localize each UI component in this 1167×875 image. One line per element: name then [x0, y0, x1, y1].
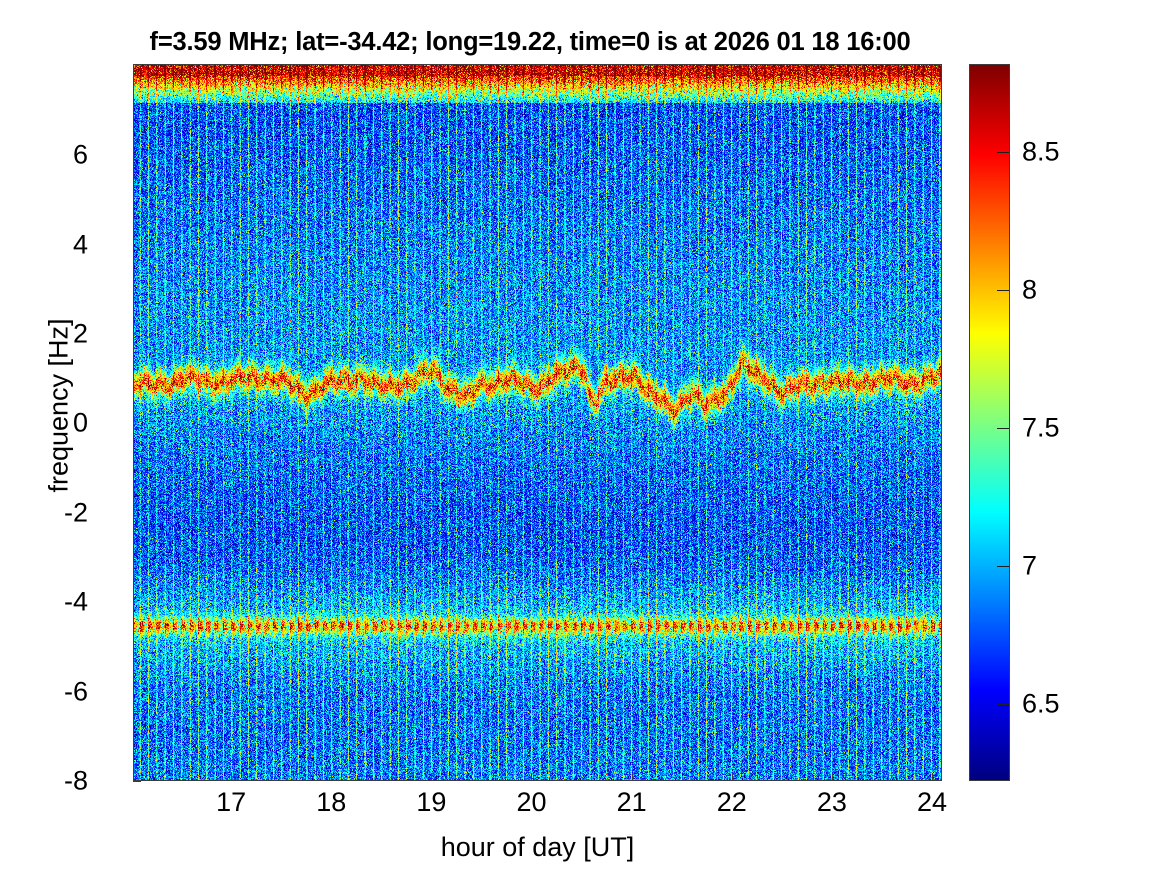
y-axis-tick-2: 2	[28, 320, 88, 347]
x-axis-label: hour of day [UT]	[133, 832, 942, 863]
x-axis-tick-22: 22	[692, 789, 772, 816]
spectrogram-image[interactable]	[134, 65, 942, 781]
colorbar[interactable]	[969, 64, 1010, 781]
colorbar-tick-mark	[997, 152, 1009, 153]
x-tick-mark	[431, 773, 432, 781]
colorbar-gradient	[970, 65, 1009, 780]
colorbar-tick-8: 8	[1022, 277, 1037, 304]
colorbar-tick-7p5: 7.5	[1022, 415, 1060, 442]
y-axis-tick-neg2: -2	[28, 499, 88, 526]
colorbar-tick-mark	[997, 704, 1009, 705]
colorbar-tick-mark	[997, 566, 1009, 567]
x-tick-mark	[531, 773, 532, 781]
x-tick-mark	[331, 773, 332, 781]
y-axis-tick-4: 4	[28, 231, 88, 258]
x-tick-mark	[231, 773, 232, 781]
x-axis-tick-21: 21	[592, 789, 672, 816]
y-axis-tick-neg6: -6	[28, 678, 88, 705]
y-axis-tick-neg8: -8	[28, 768, 88, 795]
figure-canvas: f=3.59 MHz; lat=-34.42; long=19.22, time…	[0, 0, 1167, 875]
x-tick-mark	[932, 773, 933, 781]
colorbar-tick-7: 7	[1022, 552, 1037, 579]
colorbar-tick-mark	[997, 290, 1009, 291]
x-axis-tick-23: 23	[792, 789, 872, 816]
x-axis-tick-20: 20	[491, 789, 571, 816]
x-axis-tick-17: 17	[191, 789, 271, 816]
x-axis-tick-19: 19	[391, 789, 471, 816]
y-tick-mark	[133, 781, 141, 782]
x-tick-mark	[832, 773, 833, 781]
spectrogram-axes[interactable]	[133, 64, 942, 781]
colorbar-tick-6p5: 6.5	[1022, 690, 1060, 717]
x-tick-mark	[732, 773, 733, 781]
x-tick-mark	[632, 773, 633, 781]
colorbar-tick-8p5: 8.5	[1022, 139, 1060, 166]
page-title: f=3.59 MHz; lat=-34.42; long=19.22, time…	[0, 28, 1060, 57]
colorbar-tick-mark	[997, 428, 1009, 429]
y-axis-tick-0: 0	[28, 410, 88, 437]
y-axis-tick-6: 6	[28, 142, 88, 169]
x-axis-tick-24: 24	[892, 789, 972, 816]
x-axis-tick-18: 18	[291, 789, 371, 816]
y-axis-tick-neg4: -4	[28, 589, 88, 616]
